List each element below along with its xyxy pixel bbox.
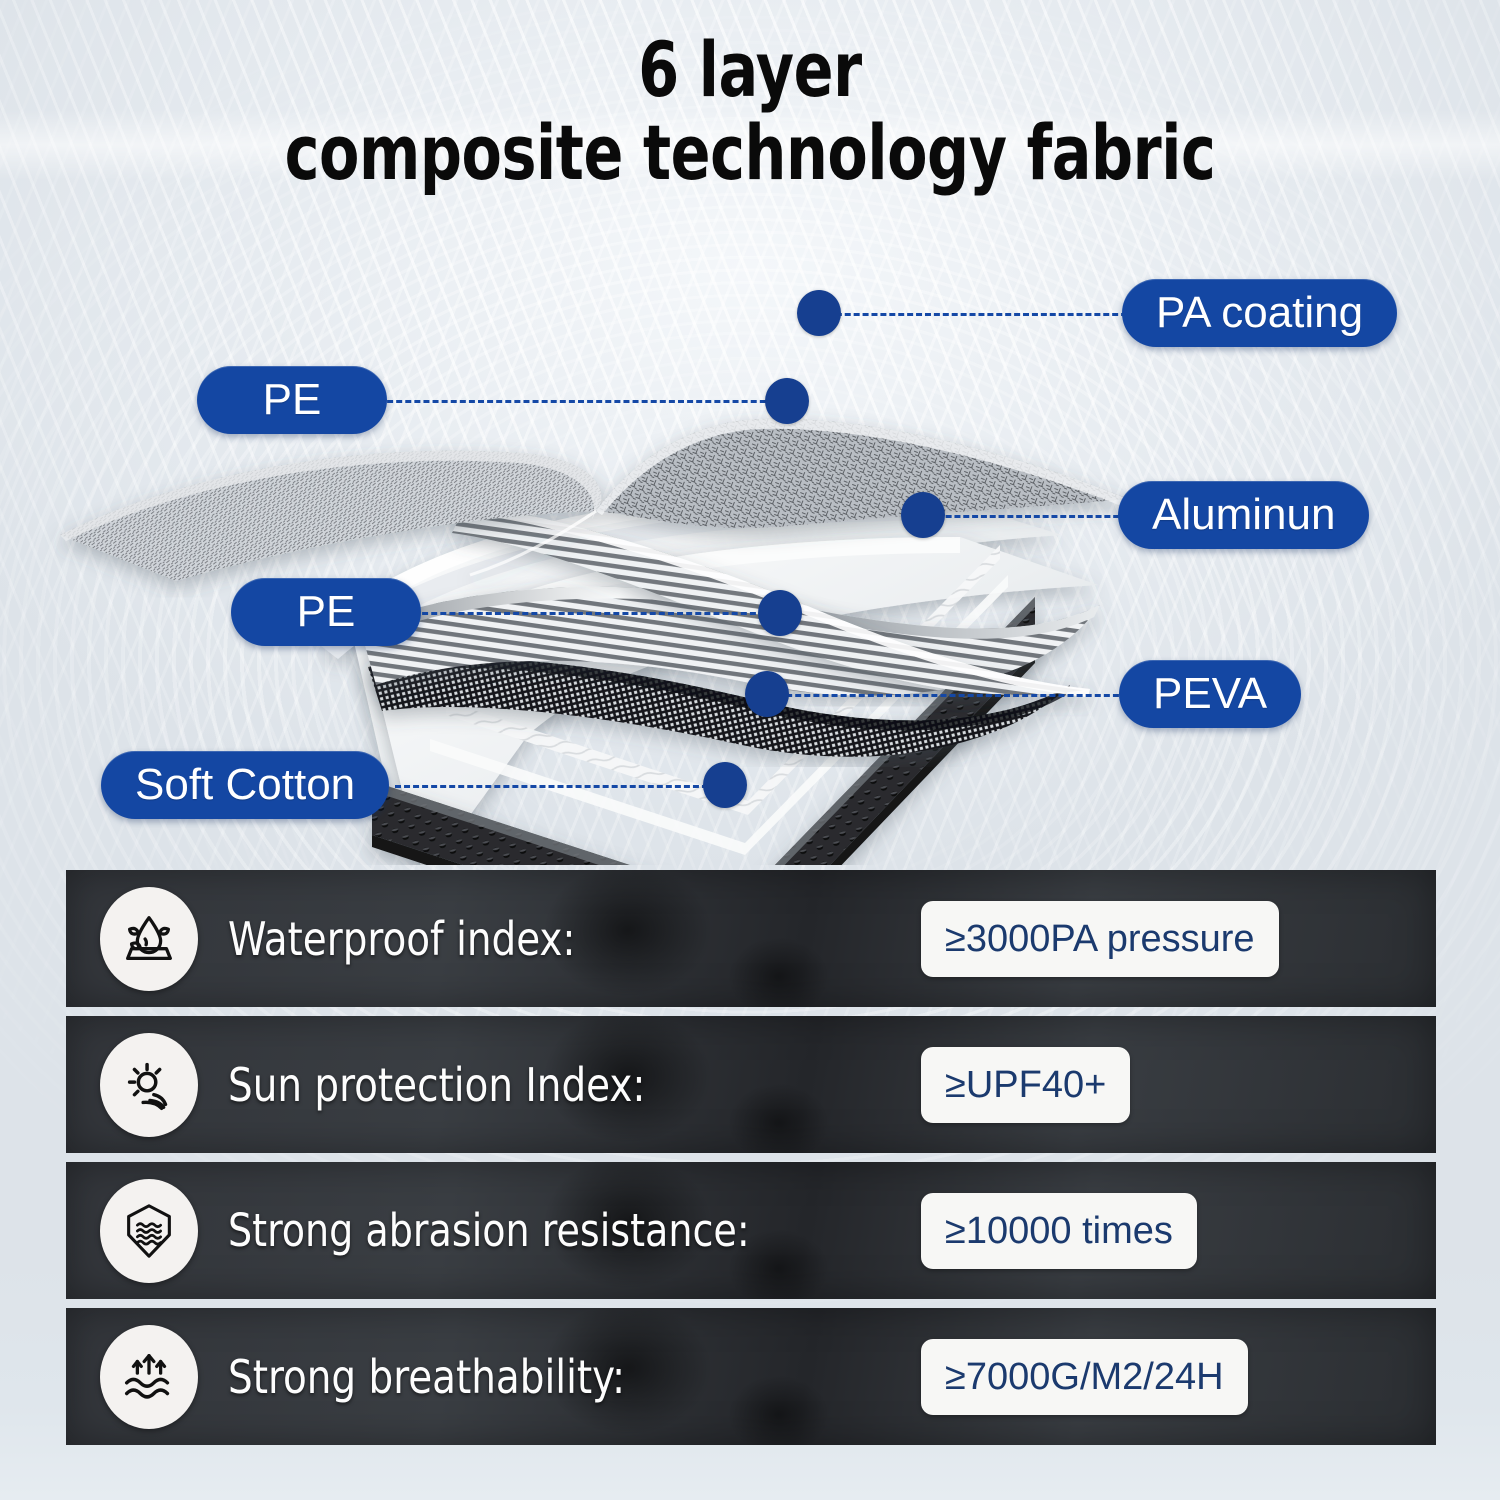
dot-pe-upper [765,378,809,424]
label-pa-coating[interactable]: PA coating [1122,279,1397,347]
label-aluminun[interactable]: Aluminun [1118,481,1369,549]
spec-value-waterproof: ≥3000PA pressure [921,901,1279,977]
infographic-canvas: 6 layer composite technology fabric [0,0,1500,1500]
dot-aluminun [901,492,945,538]
label-pe-upper[interactable]: PE [197,366,387,434]
spec-value-abrasion: ≥10000 times [921,1193,1197,1269]
abrasion-shield-icon [100,1179,198,1283]
page-title-line-2: composite technology fabric [105,117,1395,190]
connector-pe-lower [413,612,765,615]
spec-row-abrasion: Strong abrasion resistance: ≥10000 times [66,1162,1436,1299]
dot-soft-cotton [703,762,747,808]
spec-label-breathability: Strong breathability: [228,1354,625,1400]
connector-pe-upper [378,400,784,403]
dot-peva [745,671,789,717]
connector-peva [768,694,1128,697]
page-title-line-1: 6 layer [105,34,1395,107]
spec-label-sun-protection: Sun protection Index: [228,1062,645,1108]
spec-label-abrasion: Strong abrasion resistance: [228,1208,750,1253]
spec-value-breathability: ≥7000G/M2/24H [921,1339,1248,1415]
sun-protection-icon [100,1033,198,1137]
connector-soft-cotton [395,785,717,788]
connector-pa-coating [818,313,1136,316]
waterproof-droplet-icon [100,887,198,991]
spec-value-sun-protection: ≥UPF40+ [921,1047,1130,1123]
connector-aluminun [928,515,1128,518]
label-peva[interactable]: PEVA [1119,660,1301,728]
spec-row-breathability: Strong breathability: ≥7000G/M2/24H [66,1308,1436,1445]
page-title: 6 layer composite technology fabric [105,34,1395,190]
spec-label-waterproof: Waterproof index: [228,916,576,962]
dot-pa-coating [797,290,841,336]
breathability-arrows-icon [100,1325,198,1429]
spec-list: Waterproof index: ≥3000PA pressure Sun p… [66,870,1436,1454]
spec-row-waterproof: Waterproof index: ≥3000PA pressure [66,870,1436,1007]
spec-row-sun-protection: Sun protection Index: ≥UPF40+ [66,1016,1436,1153]
label-soft-cotton[interactable]: Soft Cotton [101,751,389,819]
dot-pe-lower [758,590,802,636]
label-pe-lower[interactable]: PE [231,578,421,646]
